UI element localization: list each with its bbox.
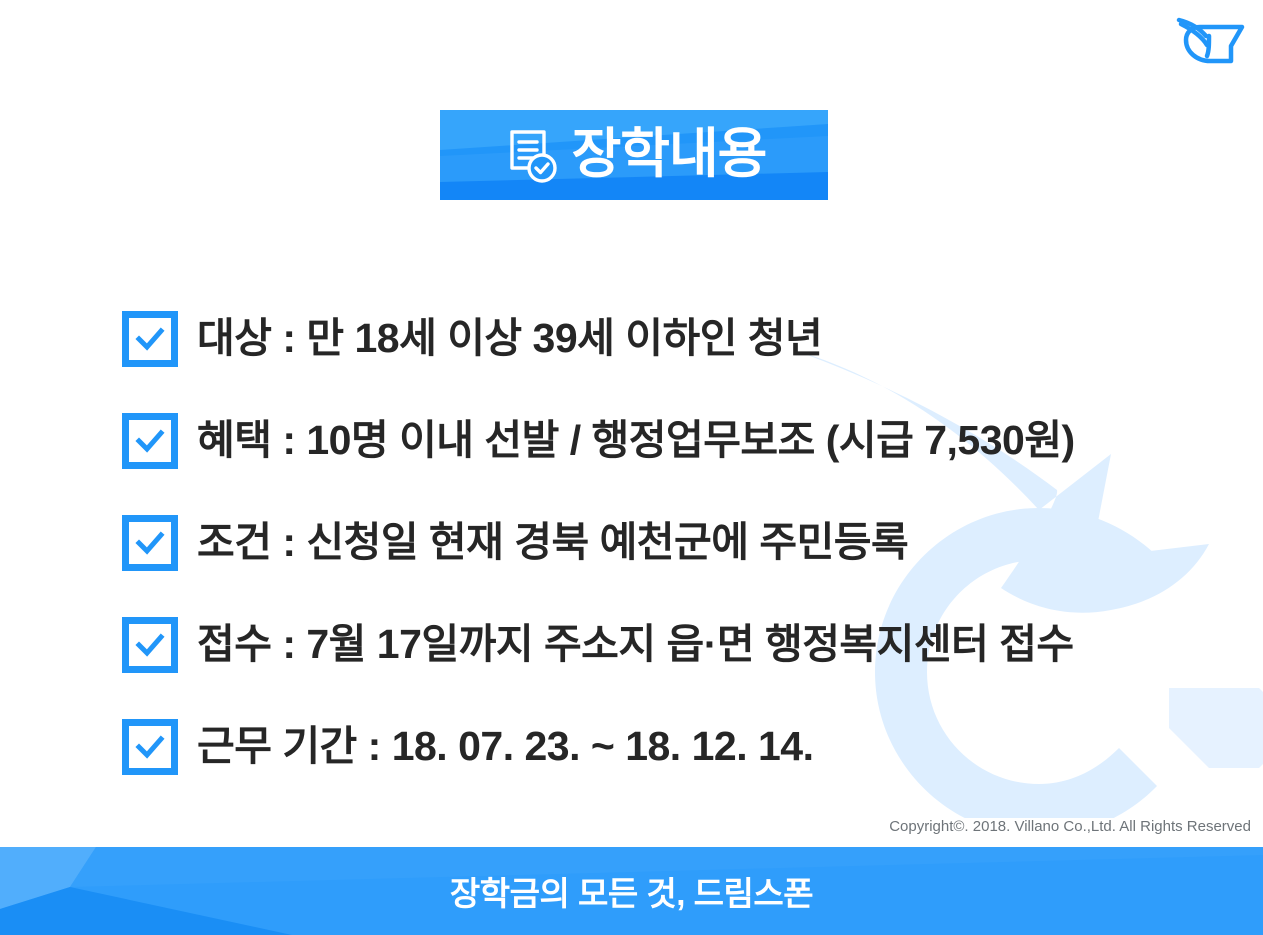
list-item: 혜택 : 10명 이내 선발 / 행정업무보조 (시급 7,530원) xyxy=(122,390,1242,492)
list-item-label: 대상 : 만 18세 이상 39세 이하인 청년 xyxy=(197,316,822,361)
list-item-label: 조건 : 신청일 현재 경북 예천군에 주민등록 xyxy=(197,520,908,565)
banner-title-text: 장학내용 xyxy=(572,127,767,181)
document-check-icon xyxy=(506,128,558,184)
scholarship-detail-list: 대상 : 만 18세 이상 39세 이하인 청년 혜택 : 10명 이내 선발 … xyxy=(122,288,1242,798)
villano-bird-logo-icon xyxy=(1169,8,1253,80)
copyright-text: Copyright©. 2018. Villano Co.,Ltd. All R… xyxy=(889,818,1251,835)
list-item: 근무 기간 : 18. 07. 23. ~ 18. 12. 14. xyxy=(122,696,1242,798)
footer-bar: 장학금의 모든 것, 드림스폰 xyxy=(0,847,1263,935)
list-item-label: 근무 기간 : 18. 07. 23. ~ 18. 12. 14. xyxy=(197,724,813,769)
title-banner: 장학내용 xyxy=(440,110,828,200)
checkbox-checked-icon xyxy=(122,311,178,367)
checkbox-checked-icon xyxy=(122,515,178,571)
footer-tagline: 장학금의 모든 것, 드림스폰 xyxy=(0,847,1263,935)
list-item: 대상 : 만 18세 이상 39세 이하인 청년 xyxy=(122,288,1242,390)
checkbox-checked-icon xyxy=(122,413,178,469)
slide-page: 장학내용 대상 : 만 18세 이상 39세 이하인 청년 혜택 : 10명 이… xyxy=(0,0,1263,935)
checkbox-checked-icon xyxy=(122,719,178,775)
list-item: 접수 : 7월 17일까지 주소지 읍·면 행정복지센터 접수 xyxy=(122,594,1242,696)
list-item-label: 혜택 : 10명 이내 선발 / 행정업무보조 (시급 7,530원) xyxy=(197,418,1075,463)
checkbox-checked-icon xyxy=(122,617,178,673)
list-item-label: 접수 : 7월 17일까지 주소지 읍·면 행정복지센터 접수 xyxy=(197,622,1074,667)
list-item: 조건 : 신청일 현재 경북 예천군에 주민등록 xyxy=(122,492,1242,594)
